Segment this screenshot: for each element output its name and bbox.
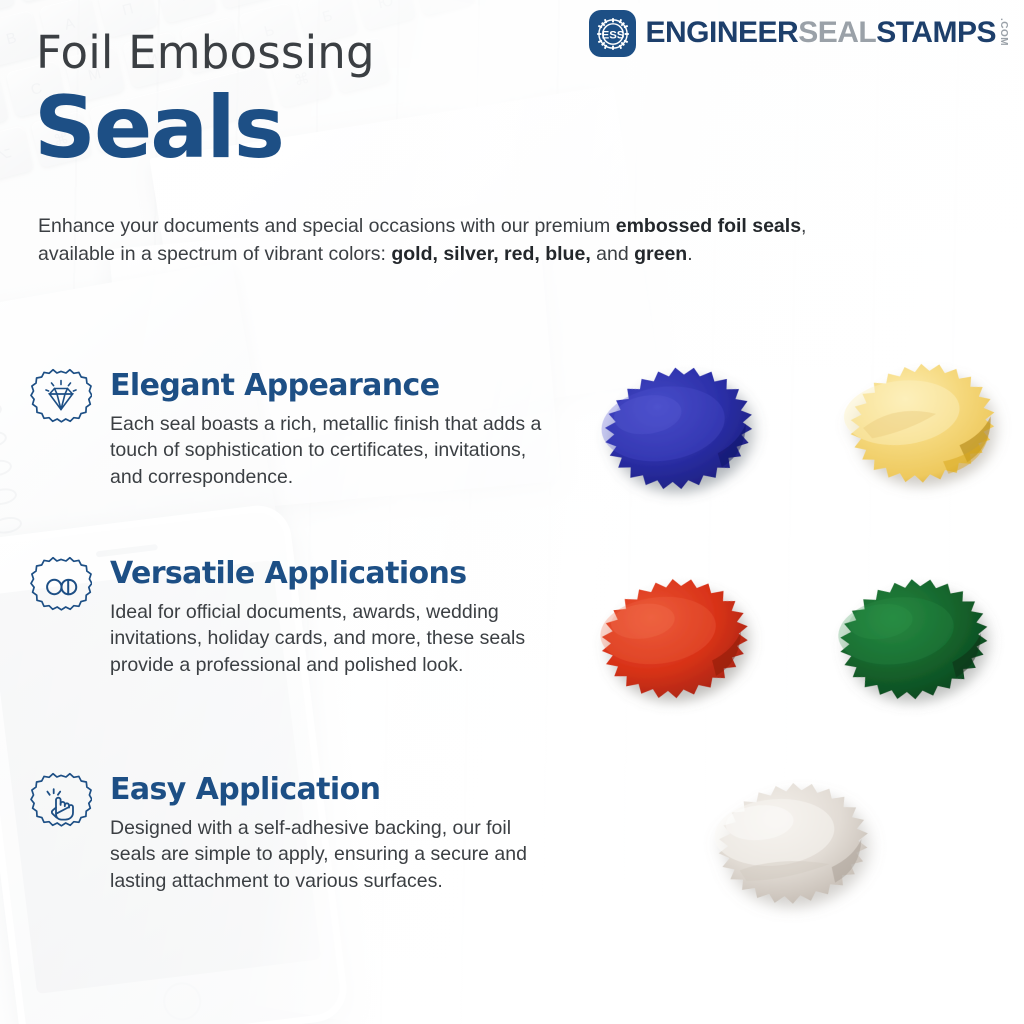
subtitle-text-4: and [591,243,634,265]
seal-silver [678,752,910,950]
infinity-icon [30,556,92,618]
brand-name-engineer: ENGINEER [645,18,798,48]
feature-title: Versatile Applications [110,558,550,590]
subtitle-bold-2: gold, silver, red, blue, [391,243,590,265]
feature-description: Ideal for official documents, awards, we… [110,599,550,679]
feature-elegant-appearance: Elegant Appearance Each seal boasts a ri… [30,368,570,490]
diamond-icon [30,368,92,430]
feature-versatile-applications: Versatile Applications Ideal for officia… [30,556,570,678]
feature-description: Designed with a self-adhesive backing, o… [110,815,550,895]
feature-title: Easy Application [110,774,550,806]
seal-green [800,548,1024,748]
subtitle-text-3: available in a spectrum of vibrant color… [38,243,391,265]
brand-name-seal: SEAL [798,18,876,48]
subtitle-text-1: Enhance your documents and special occas… [38,215,616,237]
feature-easy-application: Easy Application Designed with a self-ad… [30,772,570,894]
seal-blue [565,336,795,541]
seal-gold [812,333,1024,538]
seal-red [562,548,790,746]
brand-name-stamps: STAMPS [876,18,996,48]
brand-tld: .COM [998,18,1008,46]
ess-gear-badge-icon: ESS [589,10,636,57]
page-title-top: Foil Embossing [36,26,375,79]
subtitle-bold-1: embossed foil seals [616,215,801,237]
page-title-main: Seals [34,78,283,178]
tap-hand-icon [30,772,92,834]
svg-text:ESS: ESS [602,29,625,41]
subtitle-text-5: . [687,243,692,265]
feature-description: Each seal boasts a rich, metallic finish… [110,411,550,491]
feature-title: Elegant Appearance [110,370,550,402]
brand-logo[interactable]: ESS ENGINEERSEALSTAMPS .COM [589,10,1008,57]
subtitle-text-2: , [801,215,806,237]
subtitle-bold-3: green [634,243,687,265]
brand-wordmark: ENGINEERSEALSTAMPS .COM [645,18,1008,48]
page-subtitle: Enhance your documents and special occas… [38,212,938,269]
